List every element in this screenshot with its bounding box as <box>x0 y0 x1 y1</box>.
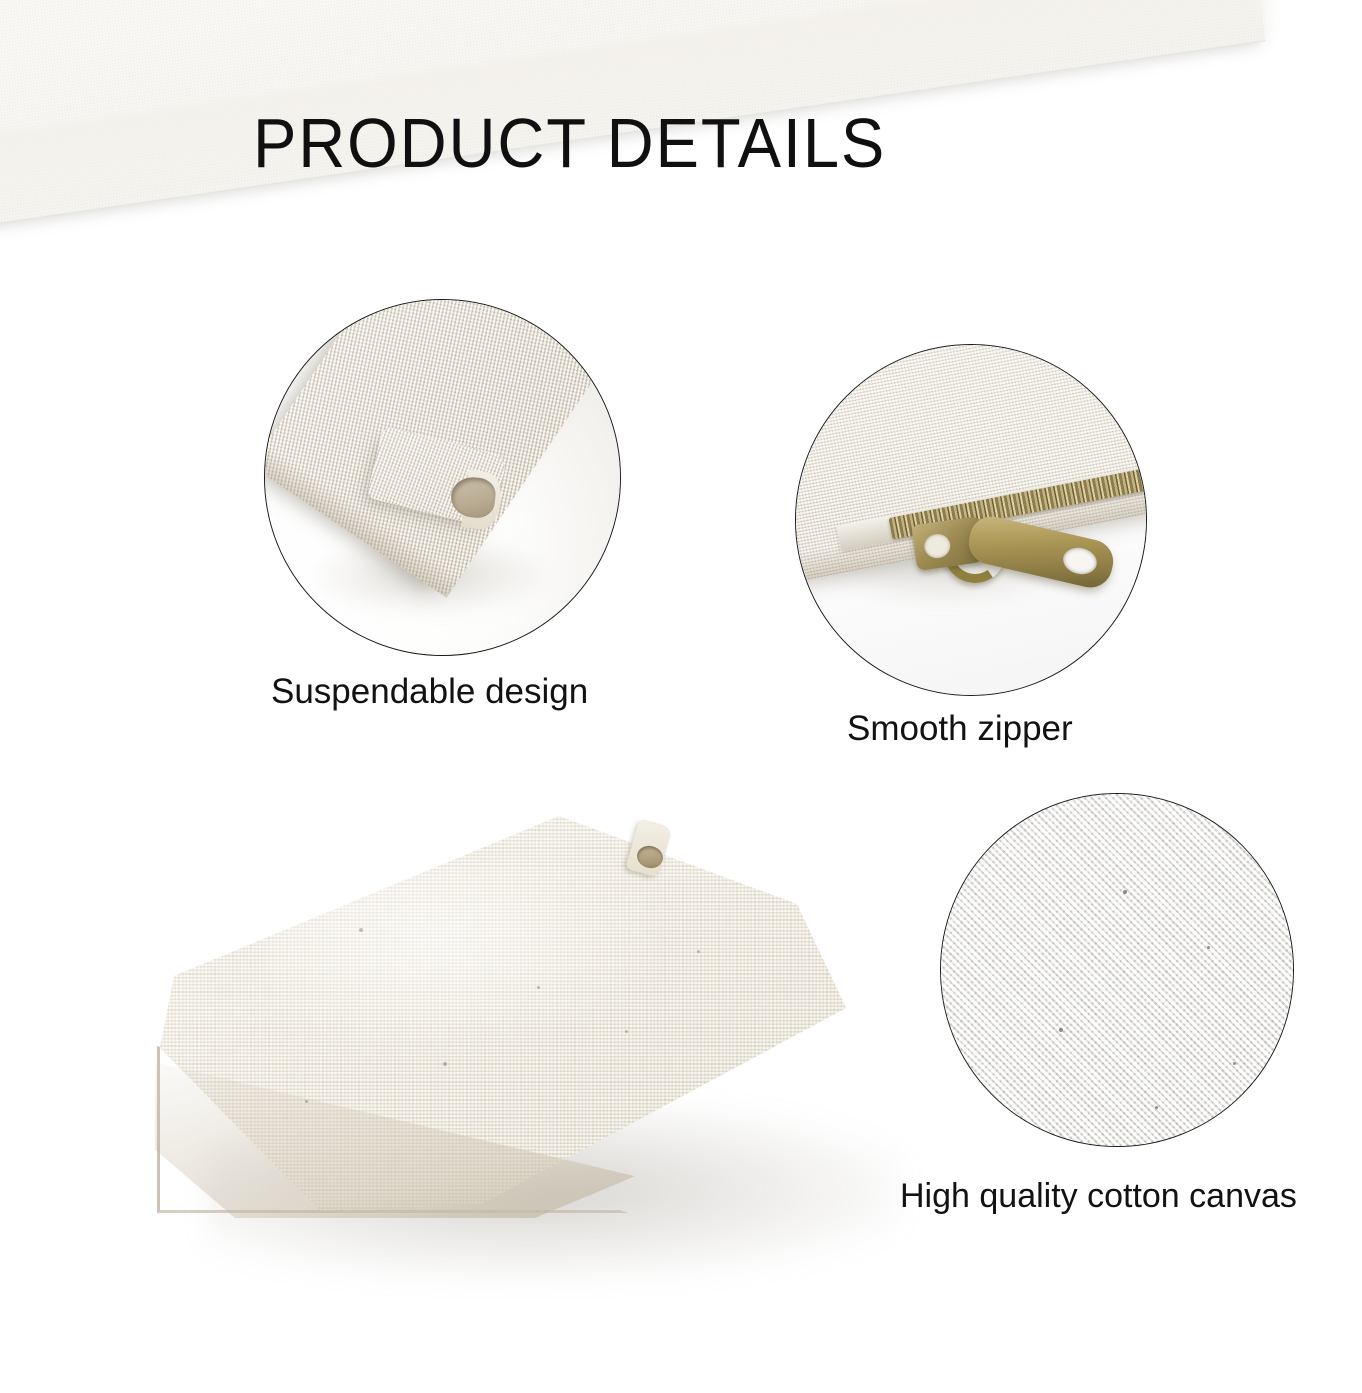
page-title: PRODUCT DETAILS <box>253 108 886 178</box>
fabric-speck <box>625 1030 628 1033</box>
zipper-pull-hole <box>1060 545 1099 578</box>
fabric-speck <box>697 950 700 953</box>
feature-caption-cotton-canvas: High quality cotton canvas <box>900 1178 1297 1215</box>
suspendable-photo-inner <box>265 300 620 655</box>
fabric-fleck <box>1123 890 1127 894</box>
fabric-fleck <box>1155 1106 1158 1109</box>
fabric-speck <box>359 928 363 932</box>
fabric-speck <box>537 986 540 989</box>
feature-photo-smooth-zipper <box>795 344 1147 696</box>
canvas-weave-texture <box>941 794 1293 1146</box>
fabric-fleck <box>1207 946 1210 949</box>
feature-caption-suspendable-design: Suspendable design <box>271 673 588 712</box>
hero-highlight <box>265 860 685 1060</box>
fabric-speck <box>443 1062 447 1066</box>
fabric-speck <box>305 1100 308 1103</box>
feature-photo-cotton-canvas <box>940 793 1294 1147</box>
fabric-fleck <box>1233 1062 1236 1065</box>
canvas-photo-inner <box>941 794 1293 1146</box>
fabric-fleck <box>1059 1028 1063 1032</box>
feature-photo-suspendable-design <box>264 299 621 656</box>
hero-product-photo <box>145 800 875 1270</box>
feature-caption-smooth-zipper: Smooth zipper <box>847 710 1073 749</box>
loop-tab-opening <box>449 475 497 519</box>
zipper-photo-inner <box>796 345 1146 695</box>
product-details-page: PRODUCT DETAILS Suspendable design <box>0 0 1362 1393</box>
